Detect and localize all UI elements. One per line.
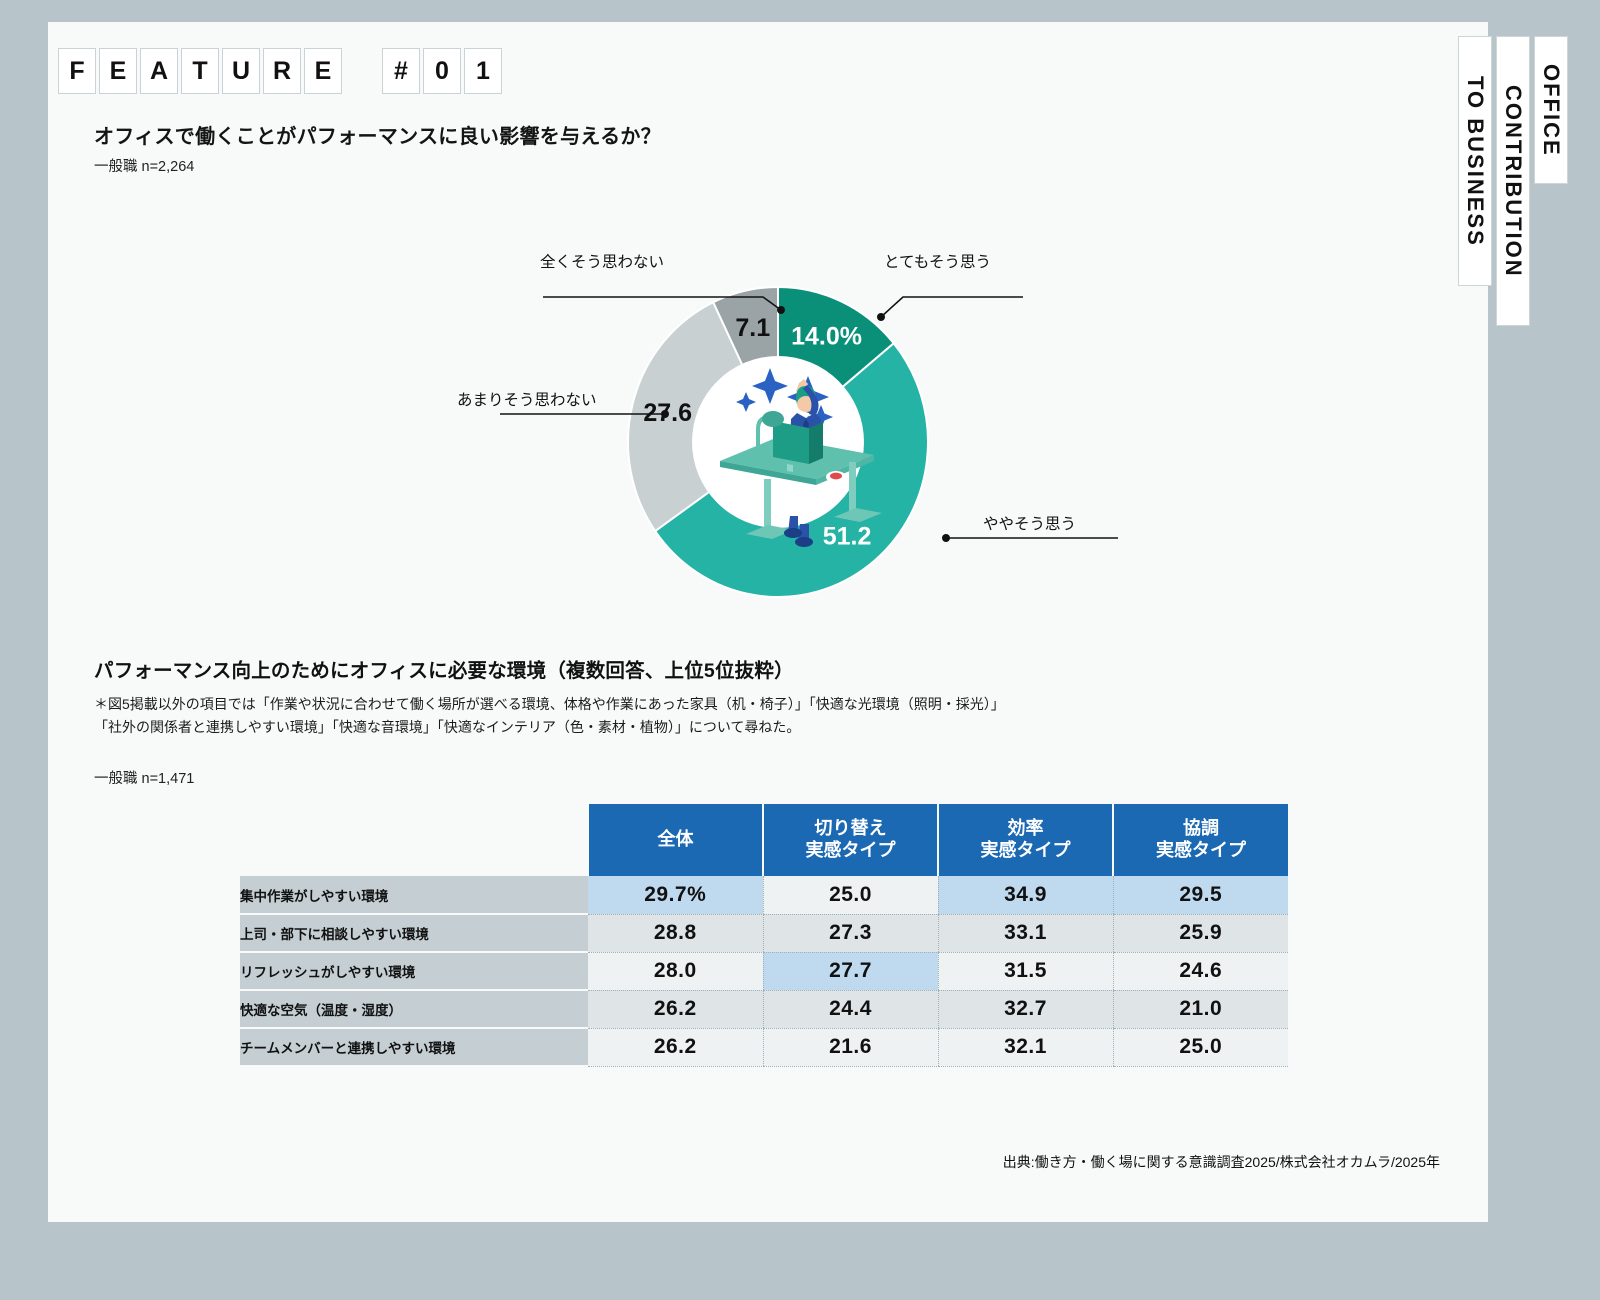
table-header-blank bbox=[240, 804, 588, 876]
banner-strip-contribution: CONTRIBUTION bbox=[1496, 36, 1530, 326]
section2-note-line2: 「社外の関係者と連携しやすい環境」「快適な音環境」「快適なインテリア（色・素材・… bbox=[94, 716, 1005, 739]
table-cell: 21.6 bbox=[763, 1028, 938, 1066]
banner-text-office: OFFICE bbox=[1538, 64, 1564, 157]
table-row: チームメンバーと連携しやすい環境26.221.632.125.0 bbox=[240, 1028, 1288, 1066]
donut-value-2: 27.6 bbox=[643, 399, 692, 427]
donut-value-0: 14.0% bbox=[791, 322, 862, 350]
side-banner: TO BUSINESS CONTRIBUTION OFFICE bbox=[1454, 36, 1568, 326]
table-cell: 29.5 bbox=[1113, 876, 1288, 914]
table-cell: 25.0 bbox=[1113, 1028, 1288, 1066]
table-row: 集中作業がしやすい環境29.7%25.034.929.5 bbox=[240, 876, 1288, 914]
banner-text-to-business: TO BUSINESS bbox=[1462, 76, 1488, 247]
table-row: 上司・部下に相談しやすい環境28.827.333.125.9 bbox=[240, 914, 1288, 952]
section2-note-line1: ＊図5掲載以外の項目では「作業や状況に合わせて働く場所が選べる環境、体格や作業に… bbox=[94, 693, 1005, 716]
table-cell: 25.9 bbox=[1113, 914, 1288, 952]
infographic-page: FEATURE#01 オフィスで働くことがパフォーマンスに良い影響を与えるか？ … bbox=[0, 0, 1600, 1300]
environment-table: 全体切り替え実感タイプ効率実感タイプ協調実感タイプ 集中作業がしやすい環境29.… bbox=[240, 804, 1288, 1067]
donut-label-not-much: あまりそう思わない bbox=[457, 388, 597, 410]
content-card: FEATURE#01 オフィスで働くことがパフォーマンスに良い影響を与えるか？ … bbox=[48, 22, 1488, 1222]
table-body: 集中作業がしやすい環境29.7%25.034.929.5上司・部下に相談しやすい… bbox=[240, 876, 1288, 1066]
section2-sample-size: 一般職 n=1,471 bbox=[94, 767, 194, 788]
col-header-line2: 実感タイプ bbox=[1114, 840, 1288, 862]
table-cell: 28.0 bbox=[588, 952, 763, 990]
col-header-line1: 効率 bbox=[939, 818, 1112, 840]
donut-label-strongly-agree: とてもそう思う bbox=[884, 250, 991, 272]
donut-chart: 14.0%51.227.67.1 bbox=[48, 22, 1488, 642]
table-cell: 26.2 bbox=[588, 1028, 763, 1066]
table-cell: 34.9 bbox=[938, 876, 1113, 914]
table-cell: 27.3 bbox=[763, 914, 938, 952]
donut-label-not-at-all: 全くそう思わない bbox=[540, 250, 664, 272]
donut-label-somewhat-agree: ややそう思う bbox=[983, 512, 1076, 534]
table-row: リフレッシュがしやすい環境28.027.731.524.6 bbox=[240, 952, 1288, 990]
table-cell: 24.6 bbox=[1113, 952, 1288, 990]
table-column-header-3: 協調実感タイプ bbox=[1113, 804, 1288, 876]
table-cell: 32.1 bbox=[938, 1028, 1113, 1066]
donut-svg: 14.0%51.227.67.1 bbox=[568, 272, 988, 612]
table-row-label: チームメンバーと連携しやすい環境 bbox=[240, 1028, 588, 1066]
table-row-label: リフレッシュがしやすい環境 bbox=[240, 952, 588, 990]
banner-strip-office: OFFICE bbox=[1534, 36, 1568, 184]
donut-value-1: 51.2 bbox=[823, 523, 872, 551]
table-cell: 28.8 bbox=[588, 914, 763, 952]
col-header-line1: 全体 bbox=[589, 829, 762, 851]
source-note: 出典:働き方・働く場に関する意識調査2025/株式会社オカムラ/2025年 bbox=[1003, 1152, 1440, 1172]
table-row-label: 集中作業がしやすい環境 bbox=[240, 876, 588, 914]
table-row: 快適な空気（温度・湿度）26.224.432.721.0 bbox=[240, 990, 1288, 1028]
table-header: 全体切り替え実感タイプ効率実感タイプ協調実感タイプ bbox=[240, 804, 1288, 876]
table-column-header-1: 切り替え実感タイプ bbox=[763, 804, 938, 876]
col-header-line1: 協調 bbox=[1114, 818, 1288, 840]
table-cell: 21.0 bbox=[1113, 990, 1288, 1028]
table-cell: 25.0 bbox=[763, 876, 938, 914]
table-cell: 27.7 bbox=[763, 952, 938, 990]
banner-strip-to-business: TO BUSINESS bbox=[1458, 36, 1492, 286]
col-header-line1: 切り替え bbox=[764, 818, 937, 840]
section2-title: パフォーマンス向上のためにオフィスに必要な環境（複数回答、上位5位抜粋） bbox=[94, 654, 794, 683]
table-cell: 24.4 bbox=[763, 990, 938, 1028]
table-cell: 26.2 bbox=[588, 990, 763, 1028]
section2-note: ＊図5掲載以外の項目では「作業や状況に合わせて働く場所が選べる環境、体格や作業に… bbox=[94, 693, 1005, 738]
table-cell: 33.1 bbox=[938, 914, 1113, 952]
table-cell: 29.7% bbox=[588, 876, 763, 914]
col-header-line2: 実感タイプ bbox=[764, 840, 937, 862]
table-cell: 31.5 bbox=[938, 952, 1113, 990]
table-column-header-0: 全体 bbox=[588, 804, 763, 876]
table-cell: 32.7 bbox=[938, 990, 1113, 1028]
table-column-header-2: 効率実感タイプ bbox=[938, 804, 1113, 876]
col-header-line2: 実感タイプ bbox=[939, 840, 1112, 862]
table-row-label: 上司・部下に相談しやすい環境 bbox=[240, 914, 588, 952]
donut-value-3: 7.1 bbox=[735, 314, 770, 342]
table-header-row: 全体切り替え実感タイプ効率実感タイプ協調実感タイプ bbox=[240, 804, 1288, 876]
table-row-label: 快適な空気（温度・湿度） bbox=[240, 990, 588, 1028]
banner-text-contribution: CONTRIBUTION bbox=[1500, 85, 1526, 278]
